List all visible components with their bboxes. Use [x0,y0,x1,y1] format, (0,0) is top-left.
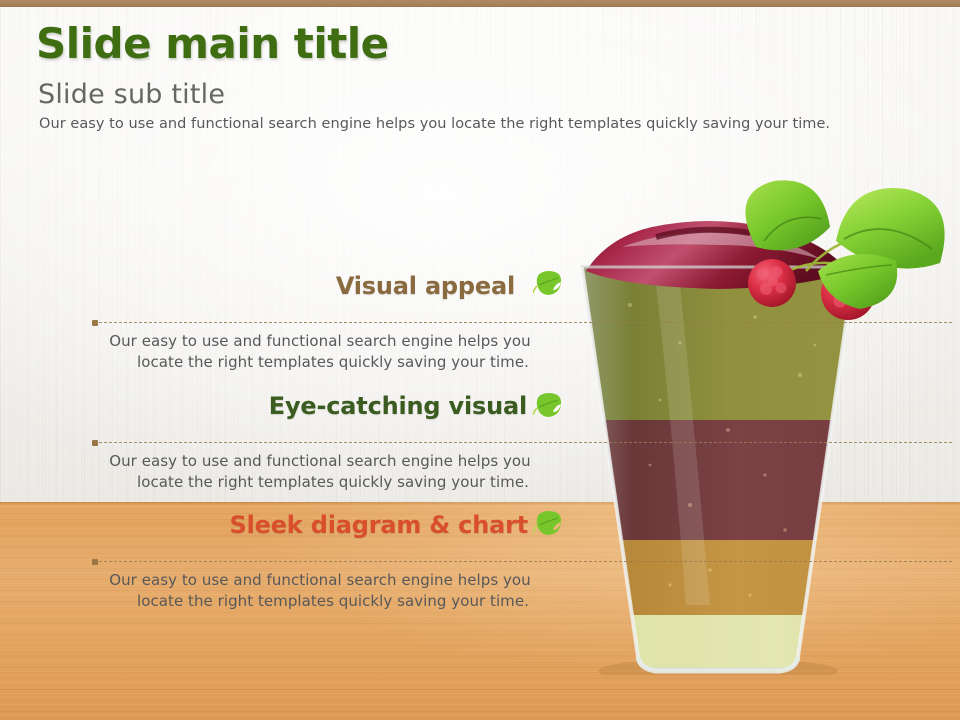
block-body-line-2: locate the right templates quickly savin… [92,352,548,373]
bullet-dot-icon [92,320,98,326]
dashed-line [99,442,952,443]
raspberry-1 [748,259,796,307]
slide-canvas: Slide main title Slide sub title Our eas… [0,0,960,720]
block-body-text: Our easy to use and functional search en… [92,451,548,494]
bullet-dot-icon [92,440,98,446]
top-edge-strip [0,0,960,7]
block-body-line-1: Our easy to use and functional search en… [109,332,530,350]
block-heading: Visual appeal [336,272,515,300]
block-divider-rule [92,322,952,324]
block-body-line-1: Our easy to use and functional search en… [109,571,530,589]
block-divider-rule [92,442,952,444]
leaf-decoration-2 [533,390,565,424]
block-body-line-2: locate the right templates quickly savin… [92,472,548,493]
block-body-text: Our easy to use and functional search en… [92,570,548,613]
smoothie-illustration [560,175,960,675]
leaf-icon [533,390,565,420]
dashed-line [99,561,952,562]
leaf-icon [533,508,565,538]
block-heading: Eye-catching visual [269,392,527,420]
smoothie-layers [560,255,960,675]
page-subtitle: Slide sub title [38,80,830,110]
smoothie-photo [560,175,960,675]
leaf-icon [533,268,565,298]
block-body-line-1: Our easy to use and functional search en… [109,452,530,470]
block-body-line-2: locate the right templates quickly savin… [92,591,548,612]
leaf-decoration-1 [533,268,565,302]
slide-header: Slide main title Slide sub title Our eas… [36,22,830,132]
block-heading: Sleek diagram & chart [230,511,528,539]
bullet-dot-icon [92,559,98,565]
leaf-decoration-3 [533,508,565,542]
block-divider-rule [92,561,952,563]
block-body-text: Our easy to use and functional search en… [92,331,548,374]
page-description: Our easy to use and functional search en… [39,116,830,132]
dashed-line [99,322,952,323]
page-title: Slide main title [36,22,830,66]
